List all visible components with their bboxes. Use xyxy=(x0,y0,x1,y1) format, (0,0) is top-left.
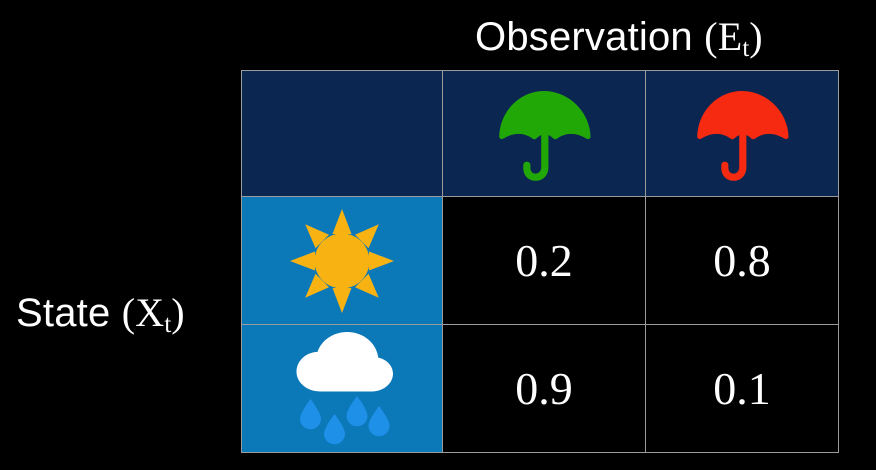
prob-value: 0.8 xyxy=(646,238,838,284)
state-title-text: State xyxy=(16,291,110,335)
state-variable: (Xt) xyxy=(122,290,185,335)
prob-cell-sun-umbrella-green: 0.2 xyxy=(443,197,646,325)
observation-variable: (Et) xyxy=(704,14,763,59)
observation-variable-letter: E xyxy=(718,14,743,59)
prob-value: 0.2 xyxy=(443,238,645,284)
state-axis-title: State (Xt) xyxy=(16,293,185,333)
observation-variable-subscript: t xyxy=(742,35,749,62)
rain-cloud-icon xyxy=(242,325,442,452)
prob-cell-rain-umbrella-red: 0.1 xyxy=(646,325,839,453)
observation-close-paren: ) xyxy=(749,14,763,59)
state-cell-sun xyxy=(242,197,443,325)
umbrella-red-icon xyxy=(646,71,838,196)
state-cell-rain xyxy=(242,325,443,453)
header-cell-umbrella-red xyxy=(646,71,839,197)
table-row: 0.2 0.8 xyxy=(242,197,839,325)
table-header-row xyxy=(242,71,839,197)
table-row: 0.9 0.1 xyxy=(242,325,839,453)
state-variable-subscript: t xyxy=(164,311,171,338)
prob-value: 0.1 xyxy=(646,366,838,412)
sun-icon xyxy=(242,197,442,324)
observation-title-text: Observation xyxy=(475,15,693,59)
observation-open-paren: ( xyxy=(704,14,718,59)
observation-axis-title: Observation (Et) xyxy=(475,17,763,57)
corner-cell xyxy=(242,71,443,197)
umbrella-green-icon xyxy=(443,71,645,196)
state-open-paren: ( xyxy=(122,290,136,335)
prob-value: 0.9 xyxy=(443,366,645,412)
prob-cell-rain-umbrella-green: 0.9 xyxy=(443,325,646,453)
conditional-probability-table: 0.2 0.8 xyxy=(241,70,839,453)
state-variable-letter: X xyxy=(135,290,164,335)
prob-cell-sun-umbrella-red: 0.8 xyxy=(646,197,839,325)
header-cell-umbrella-green xyxy=(443,71,646,197)
state-close-paren: ) xyxy=(171,290,185,335)
slide-canvas: Observation (Et) State (Xt) xyxy=(0,0,876,470)
